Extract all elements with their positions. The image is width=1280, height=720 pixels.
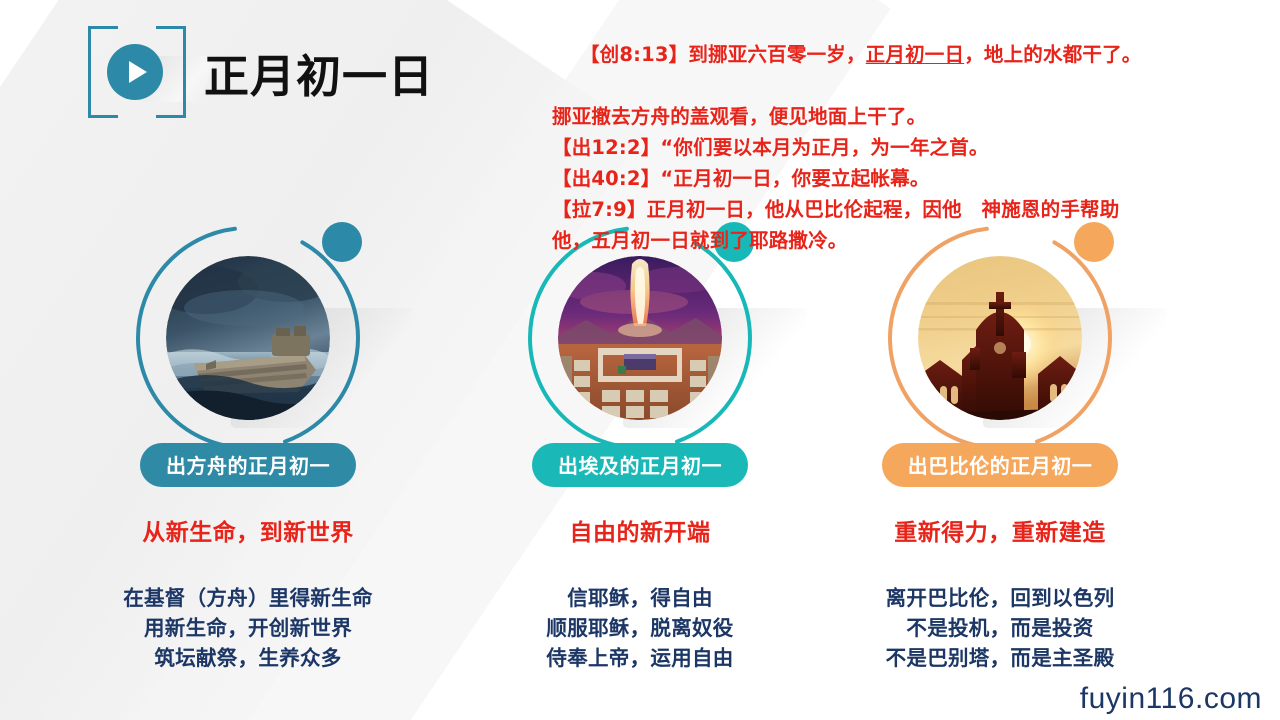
column-babylon: 出巴比伦的正月初一 重新得力，重新建造 离开巴比伦，回到以色列 不是投机，而是投…: [800, 218, 1200, 673]
bracket-left-edge: [88, 56, 91, 88]
scripture-line-1-post: ，地上的水都干了。: [964, 43, 1141, 66]
noahs-ark-in-storm-photo: [166, 256, 330, 420]
scripture-line-1: 【创8:13】到挪亚六百零一岁，正月初一日，地上的水都干了。: [552, 8, 1272, 101]
bullet-item: 不是巴别塔，而是主圣殿: [800, 643, 1200, 673]
play-circle-icon: [107, 44, 163, 100]
slide-header: 正月初一日: [88, 26, 434, 118]
bracket-bottom-left: [88, 88, 118, 118]
play-triangle-icon: [129, 61, 147, 83]
bullet-item: 用新生命，开创新世界: [48, 613, 448, 643]
headline-babylon: 重新得力，重新建造: [800, 513, 1200, 547]
bullet-item: 离开巴比伦，回到以色列: [800, 583, 1200, 613]
bullets-ark: 在基督（方舟）里得新生命 用新生命，开创新世界 筑坛献祭，生养众多: [48, 583, 448, 673]
bullets-exodus: 信耶稣，得自由 顺服耶稣，脱离奴役 侍奉上帝，运用自由: [440, 583, 840, 673]
bullet-item: 信耶稣，得自由: [440, 583, 840, 613]
bullets-babylon: 离开巴比伦，回到以色列 不是投机，而是投资 不是巴别塔，而是主圣殿: [800, 583, 1200, 673]
scripture-line-5: 【拉7:9】正月初一日，他从巴比伦起程，因他 神施恩的手帮助: [552, 194, 1272, 225]
scripture-line-1-underlined: 正月初一日: [866, 43, 965, 66]
headline-ark: 从新生命，到新世界: [48, 513, 448, 547]
site-watermark: fuyin116.com: [1080, 682, 1262, 716]
pill-label-babylon: 出巴比伦的正月初一: [882, 443, 1119, 487]
pill-label-exodus: 出埃及的正月初一: [532, 443, 748, 487]
bracket-top-left: [88, 26, 118, 56]
bracket-right-edge: [183, 56, 186, 88]
bullet-item: 侍奉上帝，运用自由: [440, 643, 840, 673]
column-ark: 出方舟的正月初一 从新生命，到新世界 在基督（方舟）里得新生命 用新生命，开创新…: [48, 218, 448, 673]
church-silhouette-sunset-photo: [918, 256, 1082, 420]
bullet-item: 顺服耶稣，脱离奴役: [440, 613, 840, 643]
scripture-block: 【创8:13】到挪亚六百零一岁，正月初一日，地上的水都干了。 挪亚撤去方舟的盖观…: [552, 8, 1272, 256]
accent-dot-1: [322, 222, 362, 262]
column-exodus: 出埃及的正月初一 自由的新开端 信耶稣，得自由 顺服耶稣，脱离奴役 侍奉上帝，运…: [440, 218, 840, 673]
pill-label-ark: 出方舟的正月初一: [140, 443, 356, 487]
scripture-line-6: 他，五月初一日就到了耶路撒冷。: [552, 225, 1272, 256]
scripture-line-1-pre: 【创8:13】到挪亚六百零一岁，: [580, 43, 866, 66]
scripture-line-3: 【出12:2】“你们要以本月为正月，为一年之首。: [552, 132, 1272, 163]
play-button-icon: [88, 26, 186, 118]
scripture-line-2: 挪亚撤去方舟的盖观看，便见地面上干了。: [552, 101, 1272, 132]
tabernacle-pillar-of-fire-photo: [558, 256, 722, 420]
bracket-bottom-right: [156, 88, 186, 118]
bullet-item: 不是投机，而是投资: [800, 613, 1200, 643]
scripture-line-4: 【出40:2】“正月初一日，你要立起帐幕。: [552, 163, 1272, 194]
bullet-item: 在基督（方舟）里得新生命: [48, 583, 448, 613]
headline-exodus: 自由的新开端: [440, 513, 840, 547]
ring-wrap-1: [128, 218, 368, 458]
bracket-top-right: [156, 26, 186, 56]
bullet-item: 筑坛献祭，生养众多: [48, 643, 448, 673]
page-title: 正月初一日: [204, 40, 434, 105]
